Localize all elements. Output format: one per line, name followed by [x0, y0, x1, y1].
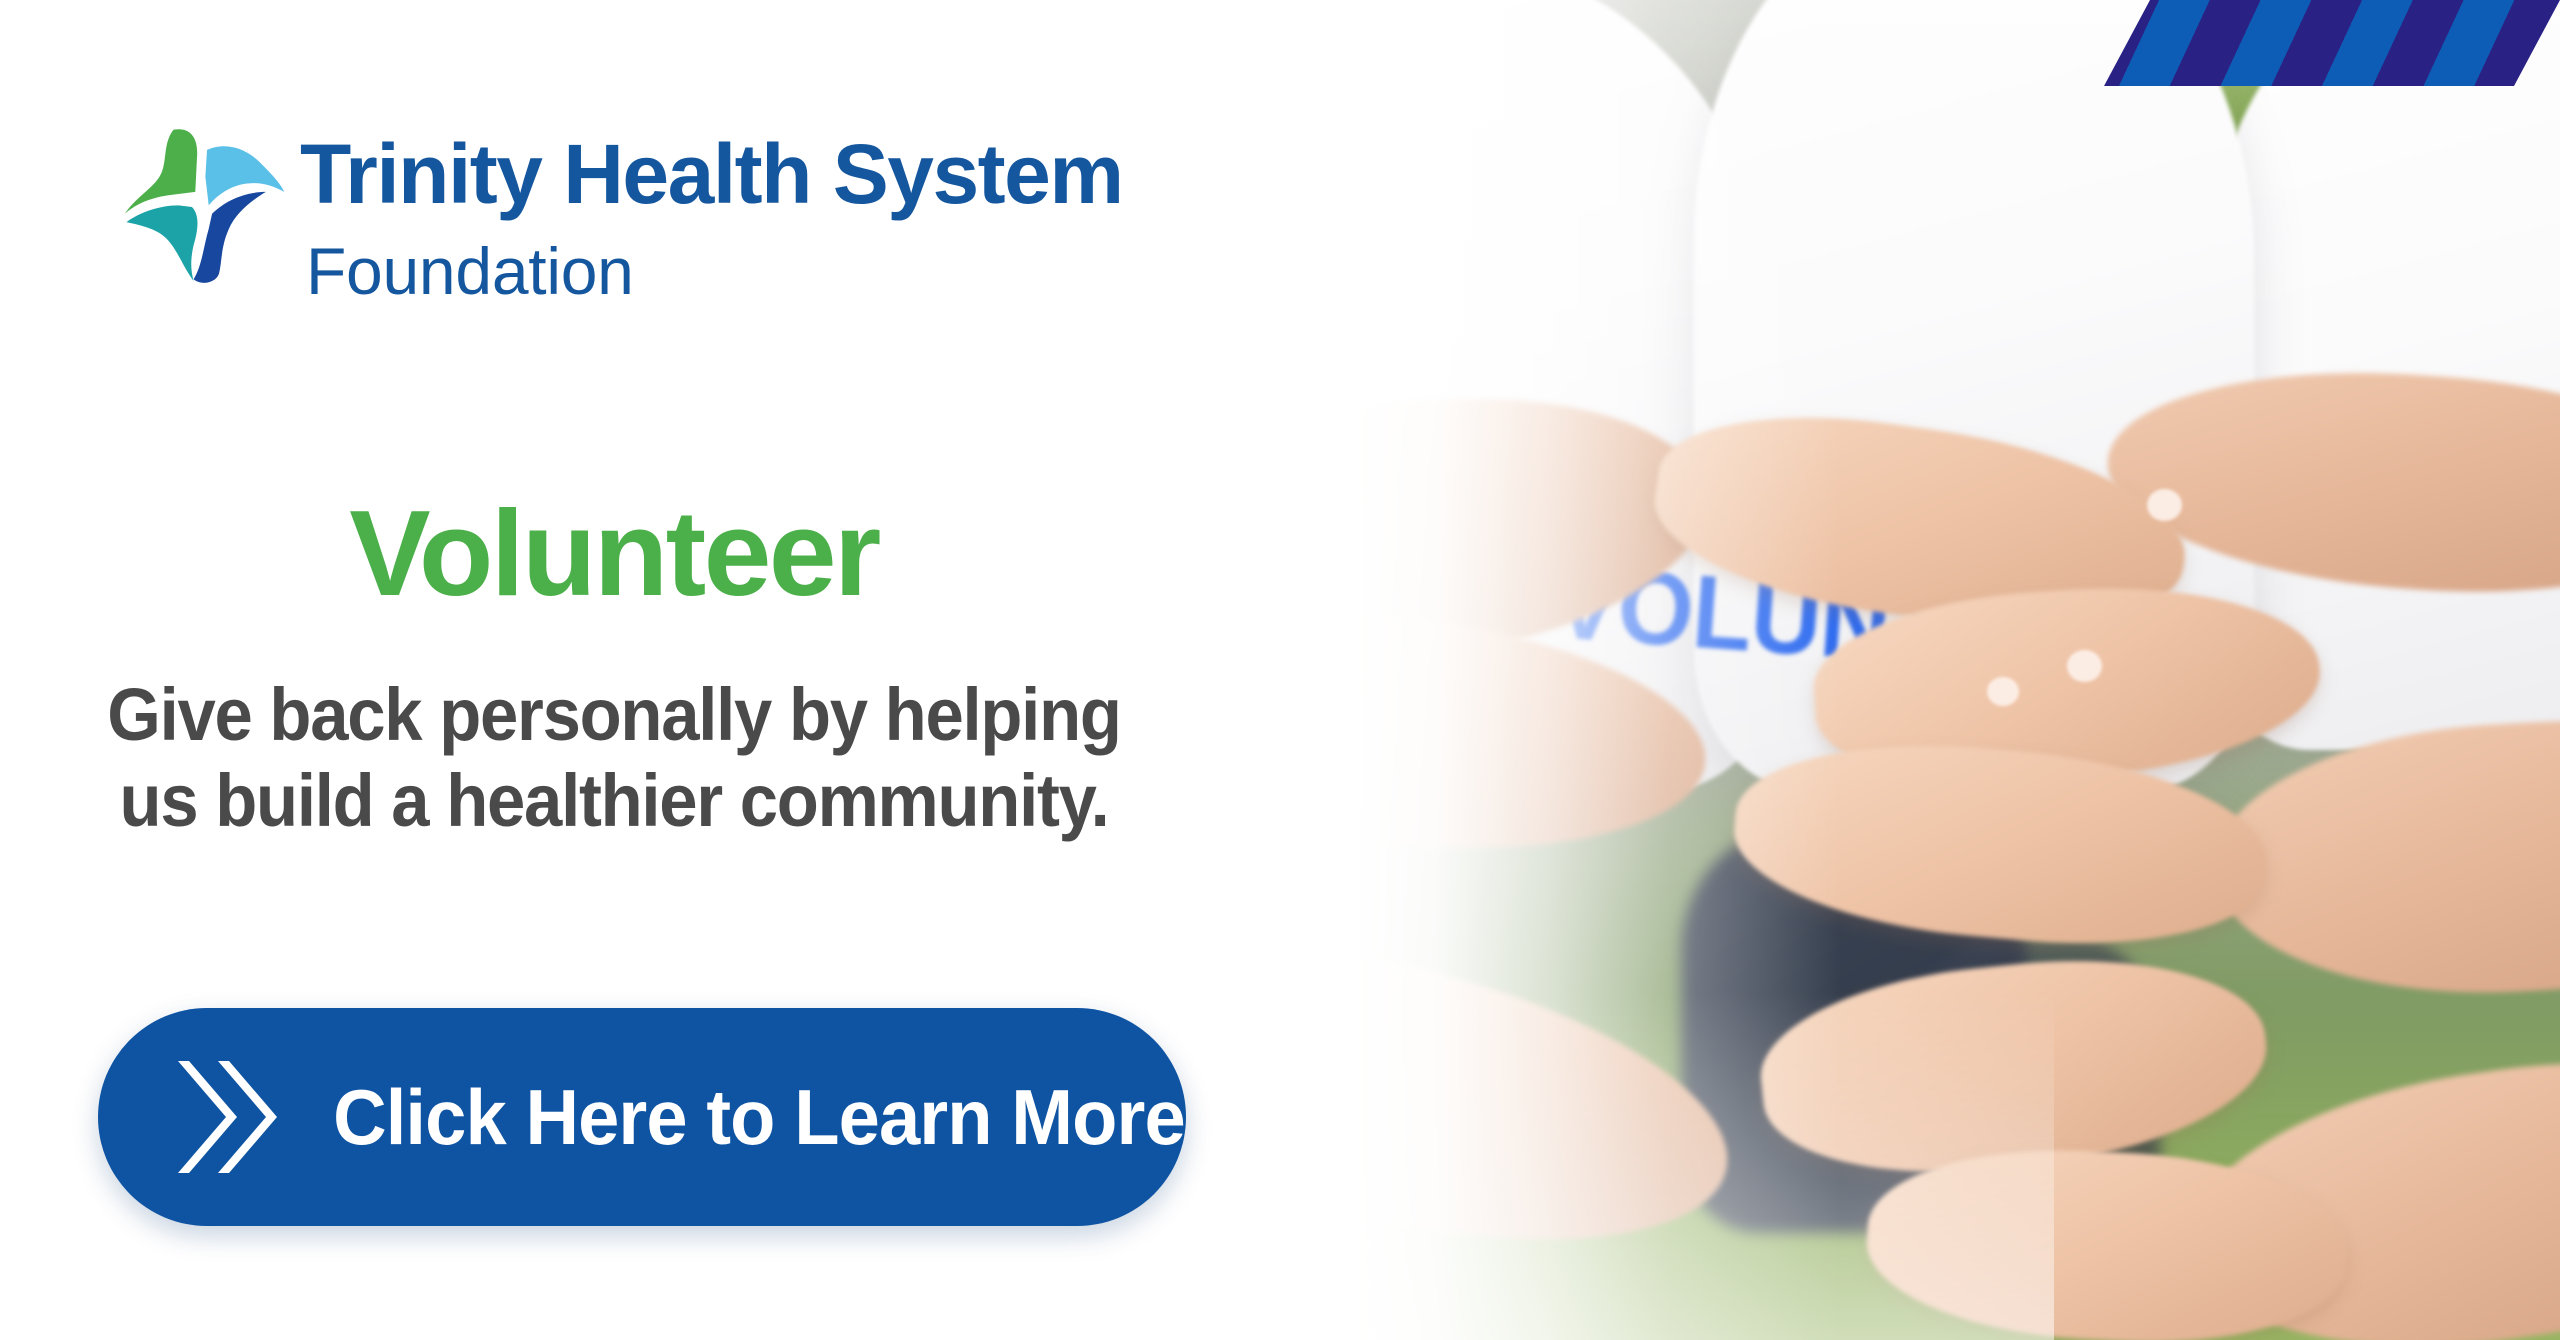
fingernail-3	[1987, 677, 2019, 706]
brand-title: Trinity Health System	[300, 134, 1123, 215]
content-panel: Trinity Health System Foundation Volunte…	[0, 0, 1228, 1340]
stripe-pattern	[2104, 0, 2560, 86]
brand-subtitle: Foundation	[306, 237, 1123, 307]
learn-more-button-label: Click Here to Learn More	[333, 1072, 1287, 1163]
trinity-four-petal-cross-icon	[118, 118, 286, 286]
photo-scene: NTEER VOLUNTEER VO	[1228, 0, 2560, 1340]
volunteer-promo-banner: NTEER VOLUNTEER VO	[0, 0, 2560, 1340]
fingernail-1	[2147, 489, 2182, 521]
brand-logo[interactable]: Trinity Health System Foundation	[118, 108, 1123, 307]
brand-logo-text: Trinity Health System Foundation	[300, 108, 1123, 307]
hero-subhead-line-2: us build a healthier community.	[43, 758, 1185, 844]
double-chevron-right-icon	[170, 1053, 282, 1181]
hero-subhead: Give back personally by helping us build…	[43, 672, 1185, 844]
page-title: Volunteer	[0, 492, 1228, 614]
diagonal-stripe-ribbon	[2104, 0, 2560, 86]
hero-subhead-line-1: Give back personally by helping	[43, 672, 1185, 758]
fingernail-2	[2067, 650, 2102, 682]
learn-more-button[interactable]: Click Here to Learn More	[98, 1008, 1186, 1226]
volunteer-photo: NTEER VOLUNTEER VO	[1228, 0, 2560, 1340]
